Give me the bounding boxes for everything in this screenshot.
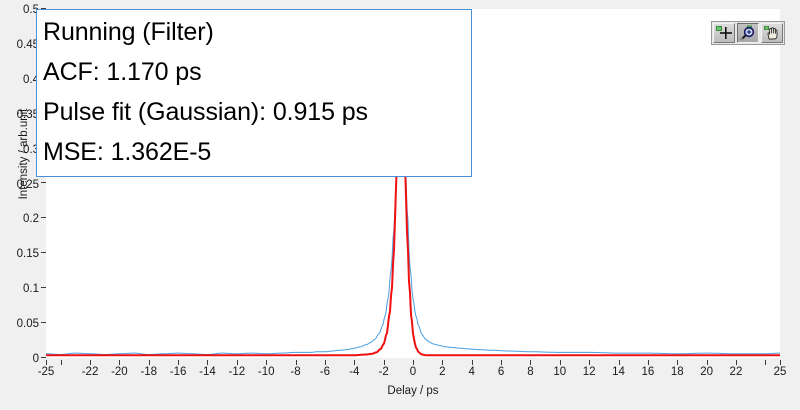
x-axis-tick-mark <box>46 360 47 365</box>
x-axis-tick-mark <box>736 360 737 365</box>
autocorrelator-graph-window: 00.050.10.150.20.250.30.350.40.450.5 Int… <box>0 0 800 410</box>
y-axis-tick-mark <box>41 217 46 218</box>
x-axis-tick-label: 18 <box>671 366 684 378</box>
x-axis-tick-mark <box>384 360 385 365</box>
graph-tool-palette[interactable] <box>711 21 785 45</box>
status-text-fragment: — <box>390 404 402 409</box>
x-axis-tick-mark <box>61 360 62 365</box>
magnifier-zoom-icon <box>739 25 757 41</box>
x-axis-tick-label: -12 <box>229 366 246 378</box>
x-axis-tick-mark <box>237 360 238 365</box>
annotation-status: Running (Filter) <box>43 12 471 52</box>
x-axis-tick-label: 2 <box>439 366 445 378</box>
x-axis-tick-label: -20 <box>111 366 128 378</box>
y-axis-tick-mark <box>41 287 46 288</box>
x-axis-tick-label: -6 <box>320 366 330 378</box>
x-axis[interactable]: -25-22-20-18-16-14-12-10-8-6-4-202468101… <box>46 358 780 388</box>
y-axis-tick: 0 <box>33 351 46 365</box>
x-axis-tick-mark <box>149 360 150 365</box>
y-axis-title: Intensity / arb.unit <box>18 84 30 224</box>
y-axis-tick-label: 0 <box>33 353 41 365</box>
x-axis-tick-mark <box>119 360 120 365</box>
x-axis-tick-mark <box>413 360 414 365</box>
x-axis-tick-mark <box>530 360 531 365</box>
annotation-acf: ACF: 1.170 ps <box>43 52 471 92</box>
x-axis-tick-label: -10 <box>258 366 275 378</box>
y-axis-tick-mark <box>41 322 46 323</box>
x-axis-tick-label: 8 <box>527 366 533 378</box>
annotation-pulse-fit: Pulse fit (Gaussian): 0.915 ps <box>43 92 471 132</box>
status-text-fragment: — <box>545 404 557 409</box>
x-axis-tick-mark <box>325 360 326 365</box>
y-axis-tick: 0.05 <box>17 316 46 330</box>
hand-pan-icon <box>763 25 781 41</box>
cursor-tool-button[interactable] <box>713 23 735 43</box>
y-axis-tick-mark <box>41 182 46 183</box>
y-axis-tick-label: 0.05 <box>17 318 41 330</box>
y-axis-tick-label: 0.15 <box>17 248 41 260</box>
crosshair-icon <box>715 25 733 41</box>
x-axis-tick-label: -2 <box>379 366 389 378</box>
status-text-fragment: — <box>230 404 242 409</box>
x-axis-tick-label: -8 <box>290 366 300 378</box>
x-axis-tick-mark <box>354 360 355 365</box>
x-axis-title: Delay / ps <box>46 385 780 397</box>
x-axis-tick-mark <box>619 360 620 365</box>
x-axis-tick-label: 20 <box>700 366 713 378</box>
x-axis-tick-label: 25 <box>774 366 787 378</box>
x-axis-tick-label: 4 <box>469 366 475 378</box>
x-axis-tick-label: -16 <box>170 366 187 378</box>
x-axis-tick-mark <box>266 360 267 365</box>
x-axis-tick-label: -25 <box>38 366 55 378</box>
x-axis-tick-mark <box>589 360 590 365</box>
x-axis-tick-label: 12 <box>583 366 596 378</box>
x-axis-tick-mark <box>560 360 561 365</box>
x-axis-tick-label: 16 <box>641 366 654 378</box>
x-axis-tick-label: -18 <box>140 366 157 378</box>
x-axis-tick-label: 22 <box>730 366 743 378</box>
x-axis-tick-mark <box>780 360 781 365</box>
y-axis-tick-label: 0.1 <box>23 283 41 295</box>
x-axis-tick-label: -22 <box>82 366 99 378</box>
x-axis-tick-label: 0 <box>410 366 416 378</box>
y-axis-tick-mark <box>41 252 46 253</box>
x-axis-tick-label: -14 <box>199 366 216 378</box>
x-axis-tick-mark <box>442 360 443 365</box>
x-axis-tick-mark <box>296 360 297 365</box>
pan-tool-button[interactable] <box>761 23 783 43</box>
x-axis-tick-mark <box>707 360 708 365</box>
zoom-tool-button[interactable] <box>737 23 759 43</box>
x-axis-tick-mark <box>207 360 208 365</box>
x-axis-tick-mark <box>677 360 678 365</box>
y-axis-tick: 0.1 <box>23 281 46 295</box>
x-axis-tick-mark <box>178 360 179 365</box>
y-axis-tick: 0.15 <box>17 246 46 260</box>
x-axis-tick-mark <box>90 360 91 365</box>
graph-panel: 00.050.10.150.20.250.30.350.40.450.5 Int… <box>0 0 800 410</box>
measurement-annotation-box: Running (Filter) ACF: 1.170 ps Pulse fit… <box>36 9 472 177</box>
x-axis-tick-mark <box>648 360 649 365</box>
x-axis-tick-label: 6 <box>498 366 504 378</box>
cut-off-status-strip: ———— <box>0 404 800 410</box>
x-axis-tick-label: -4 <box>349 366 359 378</box>
x-axis-tick-mark <box>765 360 766 365</box>
annotation-mse: MSE: 1.362E-5 <box>43 132 471 172</box>
x-axis-tick-mark <box>501 360 502 365</box>
x-axis-tick-label: 10 <box>553 366 566 378</box>
x-axis-tick-mark <box>472 360 473 365</box>
status-text-fragment: — <box>60 404 72 409</box>
x-axis-tick-label: 14 <box>612 366 625 378</box>
